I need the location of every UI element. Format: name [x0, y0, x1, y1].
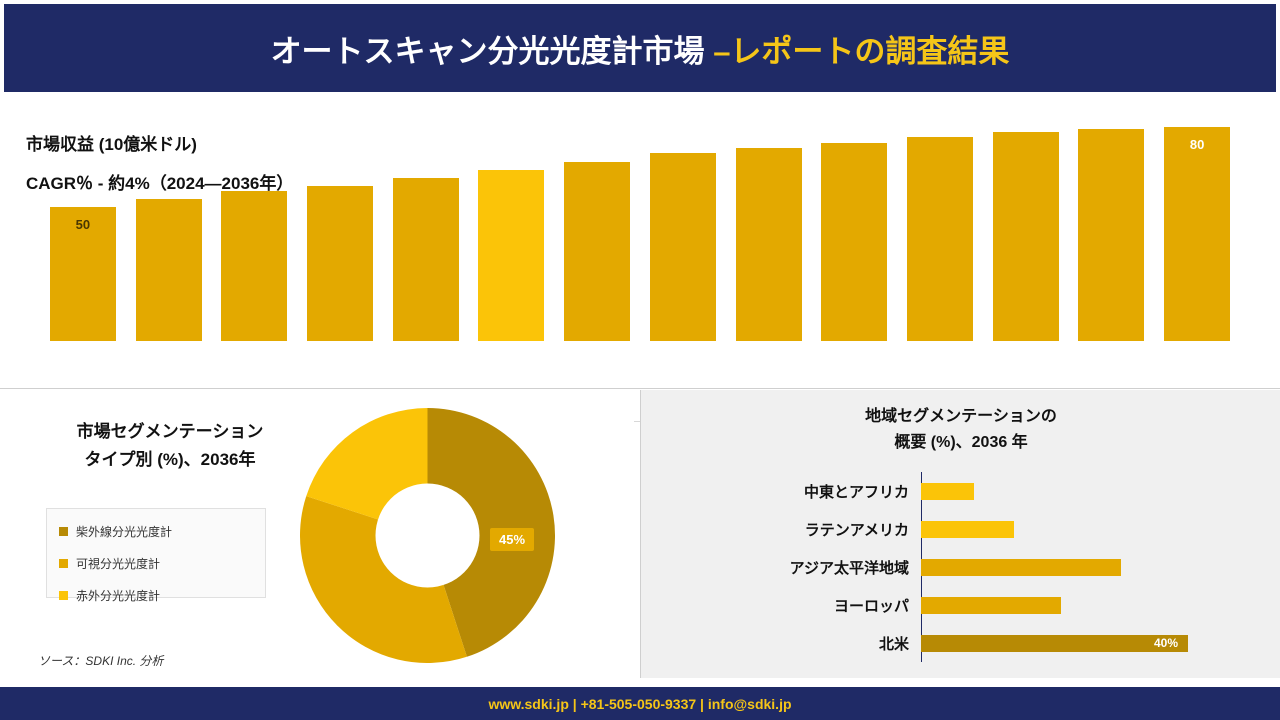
legend-swatch-icon [59, 559, 68, 568]
donut-legend-label: 赤外分光光度計 [76, 587, 160, 604]
bar-column [736, 148, 802, 341]
bar-column [564, 162, 630, 341]
donut-title-line1: 市場セグメンテーション [77, 422, 264, 441]
bar-rect [478, 170, 544, 341]
region-row: 中東とアフリカ [641, 472, 1280, 510]
region-title: 地域セグメンテーションの 概要 (%)、2036 年 [641, 404, 1280, 456]
bar-rect [907, 137, 973, 341]
source-note: ソース：SDKI Inc. 分析 [38, 652, 163, 669]
region-row: アジア太平洋地域 [641, 548, 1280, 586]
bar-column [478, 170, 544, 341]
page-title: オートスキャン分光光度計市場 –レポートの調査結果 [271, 26, 1010, 71]
region-bar [921, 559, 1121, 576]
bar-rect [564, 162, 630, 341]
bar-rect [221, 191, 287, 341]
bar-rect [1078, 129, 1144, 341]
bar-column [307, 186, 373, 341]
bar-column [821, 143, 887, 341]
page-footer: www.sdki.jp | +81-505-050-9337 | info@sd… [0, 687, 1280, 720]
bar-rect [821, 143, 887, 341]
bar-rect [136, 199, 202, 341]
bar-rect: 80 [1164, 127, 1230, 341]
bar-column: 80 [1164, 127, 1230, 341]
region-bar-series: 中東とアフリカラテンアメリカアジア太平洋地域ヨーロッパ北米40% [641, 472, 1280, 662]
region-bar [921, 483, 974, 500]
donut-legend-label: 可視分光光度計 [76, 555, 160, 572]
region-label: ラテンアメリカ [641, 519, 917, 540]
region-title-line1: 地域セグメンテーションの [865, 408, 1057, 425]
region-label: 北米 [641, 633, 917, 654]
page-header: オートスキャン分光光度計市場 –レポートの調査結果 [4, 4, 1276, 92]
bar-rect [307, 186, 373, 341]
revenue-bar-chart: 市場収益 (10億米ドル) CAGR％ - 約4%（2024―2036年） 50… [0, 96, 1280, 386]
page-title-main: オートスキャン分光光度計市場 [271, 34, 714, 69]
bar-column [907, 137, 973, 341]
region-title-line2: 概要 (%)、2036 年 [894, 434, 1027, 451]
region-bar [921, 597, 1061, 614]
donut-legend-item: 柴外線分光光度計 [59, 523, 253, 540]
region-row: ヨーロッパ [641, 586, 1280, 624]
region-label: ヨーロッパ [641, 595, 917, 616]
bar-value-label: 80 [1164, 137, 1230, 152]
donut-title-line2: タイプ別 (%)、2036年 [85, 450, 256, 469]
bar-column [393, 178, 459, 341]
legend-swatch-icon [59, 527, 68, 536]
bar-rect [650, 153, 716, 341]
region-bar [921, 521, 1014, 538]
donut-chart: 45% [300, 408, 555, 663]
bar-rect [993, 132, 1059, 341]
region-label: 中東とアフリカ [641, 481, 917, 502]
region-bar-panel: 地域セグメンテーションの 概要 (%)、2036 年 中東とアフリカラテンアメリ… [640, 390, 1280, 678]
segmentation-donut-panel: 市場セグメンテーション タイプ別 (%)、2036年 柴外線分光光度計可視分光光… [0, 390, 634, 678]
page-title-accent: –レポートの調査結果 [713, 34, 1009, 69]
donut-legend: 柴外線分光光度計可視分光光度計赤外分光光度計 [46, 508, 266, 598]
donut-callout-45: 45% [490, 528, 534, 551]
donut-legend-label: 柴外線分光光度計 [76, 523, 172, 540]
donut-legend-item: 赤外分光光度計 [59, 587, 253, 604]
bar-series: 5080 [40, 106, 1240, 341]
bar-column [650, 153, 716, 341]
bar-column [221, 191, 287, 341]
donut-title: 市場セグメンテーション タイプ別 (%)、2036年 [40, 418, 300, 474]
bar-rect [736, 148, 802, 341]
bar-column: 50 [50, 207, 116, 341]
region-bar-value-label: 40% [1154, 635, 1178, 652]
bar-rect: 50 [50, 207, 116, 341]
bar-rect [393, 178, 459, 341]
region-label: アジア太平洋地域 [641, 557, 917, 578]
region-row: 北米40% [641, 624, 1280, 662]
section-divider [0, 388, 1280, 389]
bar-column [993, 132, 1059, 341]
bar-value-label: 50 [50, 217, 116, 232]
bar-column [1078, 129, 1144, 341]
region-row: ラテンアメリカ [641, 510, 1280, 548]
region-bar: 40% [921, 635, 1188, 652]
footer-contact: www.sdki.jp | +81-505-050-9337 | info@sd… [488, 696, 791, 712]
donut-legend-item: 可視分光光度計 [59, 555, 253, 572]
legend-swatch-icon [59, 591, 68, 600]
bar-column [136, 199, 202, 341]
